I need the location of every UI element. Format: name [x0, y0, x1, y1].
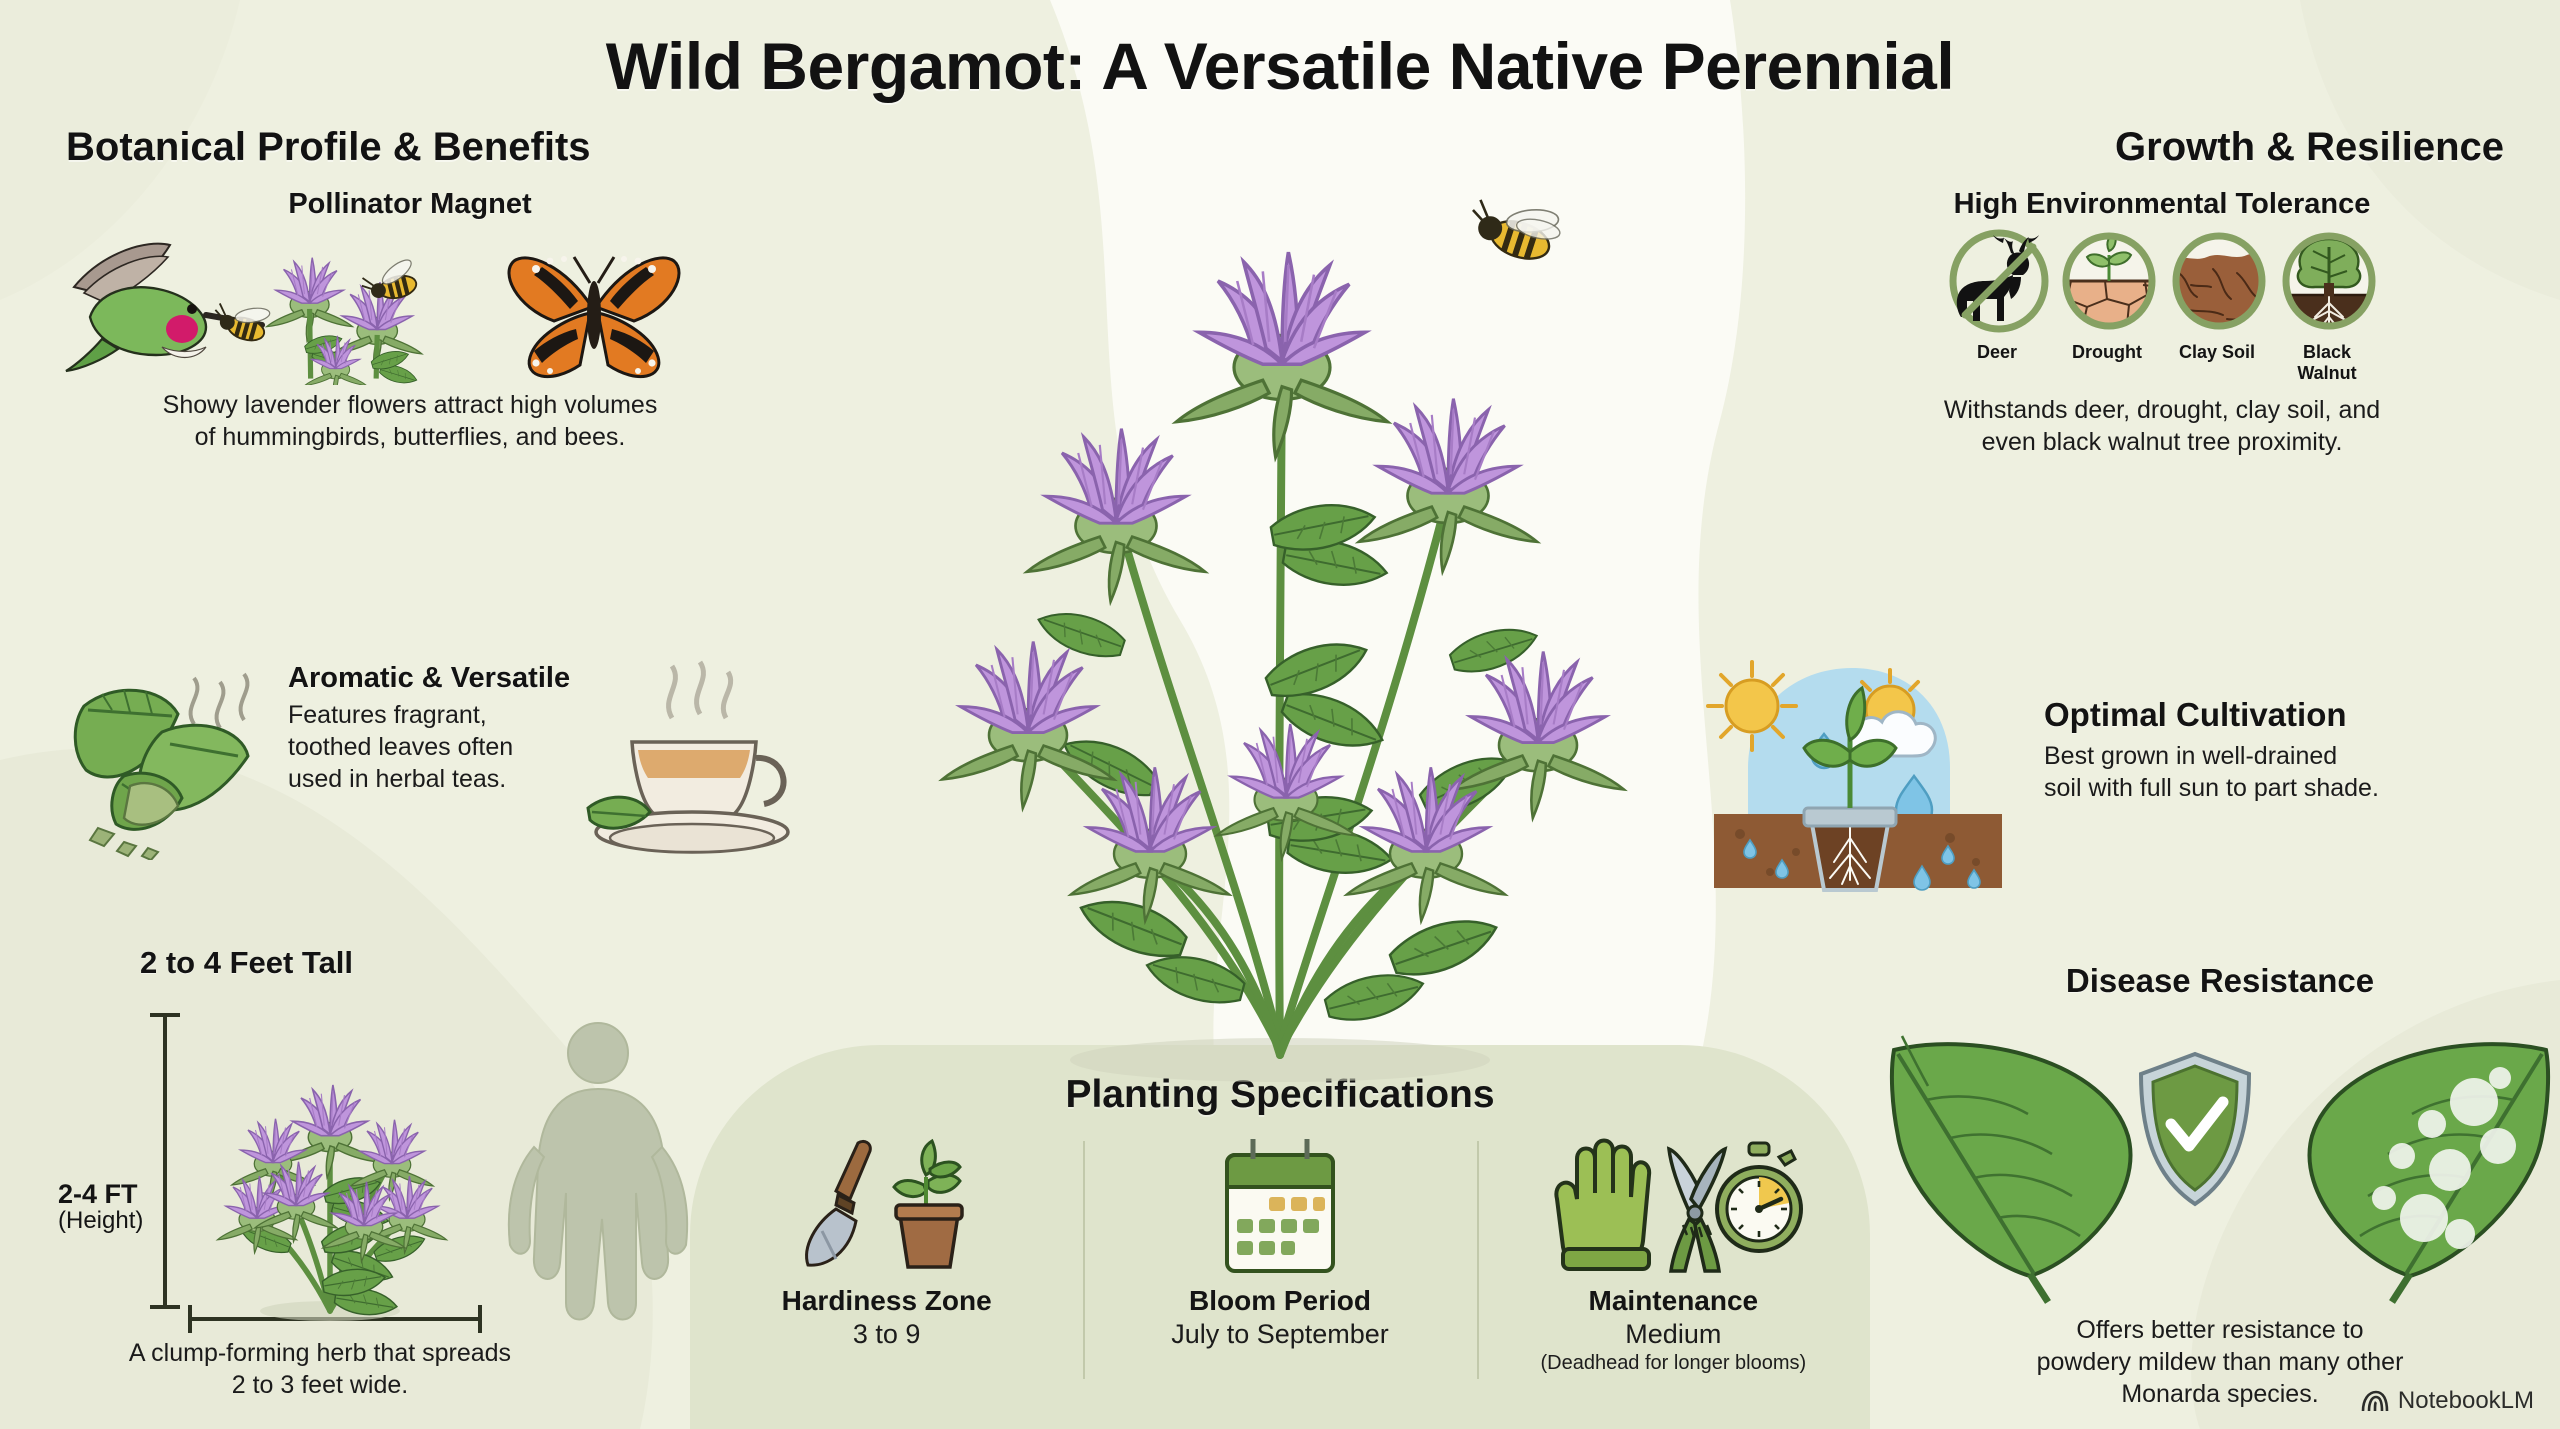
section-disease-resistance: Disease Resistance	[1880, 962, 2560, 1410]
human-silhouette-icon	[509, 1023, 687, 1320]
disease-heading: Disease Resistance	[1880, 962, 2560, 1000]
aromatic-body-line3: used in herbal teas.	[288, 763, 570, 795]
stopwatch-icon	[1717, 1143, 1801, 1251]
spec-label-bloom-period: Bloom Period	[1189, 1285, 1371, 1317]
tolerance-body-line2: even black walnut tree proximity.	[1812, 426, 2512, 458]
tolerance-item-deer: Deer	[1947, 229, 2047, 363]
wild-bergamot-plant-illustration	[820, 95, 1740, 1095]
powdery-mildew-leaf-icon	[2309, 1044, 2548, 1302]
aromatic-heading: Aromatic & Versatile	[288, 662, 570, 695]
page-title: Wild Bergamot: A Versatile Native Perenn…	[0, 28, 2560, 104]
disease-icon-row	[1880, 1006, 2560, 1306]
height-body-line2: 2 to 3 feet wide.	[40, 1369, 600, 1401]
spec-note-maintenance: (Deadhead for longer blooms)	[1540, 1352, 1806, 1375]
spec-item-maintenance: Maintenance Medium (Deadhead for longer …	[1477, 1135, 1870, 1403]
no-deer-icon	[1947, 229, 2051, 333]
hummingbird-icon	[66, 244, 262, 371]
right-column-heading: Growth & Resilience	[2115, 125, 2504, 170]
height-heading: 2 to 4 Feet Tall	[140, 945, 353, 981]
tolerance-item-clay-soil: Clay Soil	[2167, 229, 2267, 363]
height-body-line1: A clump-forming herb that spreads	[40, 1337, 600, 1369]
drought-cracked-soil-icon	[2057, 229, 2161, 333]
tolerance-label-drought: Drought	[2057, 342, 2157, 363]
spec-value-hardiness-zone: 3 to 9	[853, 1319, 921, 1350]
tolerance-label-deer: Deer	[1947, 342, 2047, 363]
left-column-heading: Botanical Profile & Benefits	[66, 125, 591, 170]
black-walnut-tree-icon	[2277, 229, 2381, 333]
sun-icon	[1708, 662, 1796, 750]
spec-label-maintenance: Maintenance	[1589, 1285, 1759, 1317]
bergamot-clump-icon	[217, 1085, 446, 1321]
potted-plant-icon	[894, 1141, 962, 1267]
planting-specifications-panel: Planting Specifications	[690, 1045, 1870, 1429]
calendar-icon	[1205, 1137, 1355, 1277]
aromatic-body-line2: toothed leaves often	[288, 731, 570, 763]
clay-soil-icon	[2167, 229, 2271, 333]
section-pollinator-magnet: Pollinator Magnet	[60, 188, 760, 453]
spec-item-bloom-period: Bloom Period July to September	[1083, 1135, 1476, 1403]
hardiness-zone-icons	[792, 1137, 982, 1277]
pollinator-heading: Pollinator Magnet	[60, 188, 760, 221]
cultivation-heading: Optimal Cultivation	[2044, 696, 2379, 734]
section-aromatic-versatile: Aromatic & Versatile Features fragrant, …	[66, 660, 946, 870]
aromatic-body-line1: Features fragrant,	[288, 699, 570, 731]
teacup-icon	[580, 660, 810, 870]
disease-body-line1: Offers better resistance to	[1880, 1314, 2560, 1346]
tolerance-item-black-walnut: Black Walnut	[2277, 229, 2377, 384]
mint-leaves-icon	[66, 660, 276, 860]
tolerance-body-line1: Withstands deer, drought, clay soil, and	[1812, 394, 2512, 426]
healthy-leaf-icon	[1892, 1036, 2131, 1302]
monarch-butterfly-icon	[509, 256, 679, 377]
disease-body-line2: powdery mildew than many other	[1880, 1346, 2560, 1378]
shield-check-icon	[2141, 1054, 2249, 1204]
steam-icon	[669, 662, 731, 718]
pollinator-body-line2: of hummingbirds, butterflies, and bees.	[60, 421, 760, 453]
cultivation-body-line1: Best grown in well-drained	[2044, 740, 2379, 772]
garden-glove-icon	[1557, 1141, 1650, 1270]
potted-seedling-in-soil-icon	[1700, 648, 2030, 898]
spec-value-maintenance: Medium	[1625, 1319, 1721, 1350]
bee-icon	[1463, 183, 1568, 267]
steam-icon	[191, 674, 248, 728]
cultivation-body-line2: soil with full sun to part shade.	[2044, 772, 2379, 804]
section-optimal-cultivation: Optimal Cultivation Best grown in well-d…	[1700, 648, 2550, 898]
vertical-measure-bracket	[150, 1015, 180, 1307]
notebooklm-logo-icon	[2359, 1389, 2389, 1413]
trowel-icon	[806, 1141, 870, 1265]
maintenance-icons	[1543, 1137, 1803, 1277]
spec-label-hardiness-zone: Hardiness Zone	[782, 1285, 992, 1317]
spec-value-bloom-period: July to September	[1171, 1319, 1389, 1350]
section-environmental-tolerance: High Environmental Tolerance Deer	[1812, 188, 2512, 458]
notebooklm-watermark-label: NotebookLM	[2398, 1387, 2534, 1415]
pollinator-icon-row	[60, 225, 760, 385]
pollinator-body-line1: Showy lavender flowers attract high volu…	[60, 389, 760, 421]
tolerance-label-black-walnut: Black Walnut	[2277, 342, 2377, 384]
notebooklm-watermark: NotebookLM	[2359, 1387, 2534, 1415]
tolerance-item-drought: Drought	[2057, 229, 2157, 363]
tolerance-heading: High Environmental Tolerance	[1812, 188, 2512, 221]
tolerance-label-clay-soil: Clay Soil	[2167, 342, 2267, 363]
